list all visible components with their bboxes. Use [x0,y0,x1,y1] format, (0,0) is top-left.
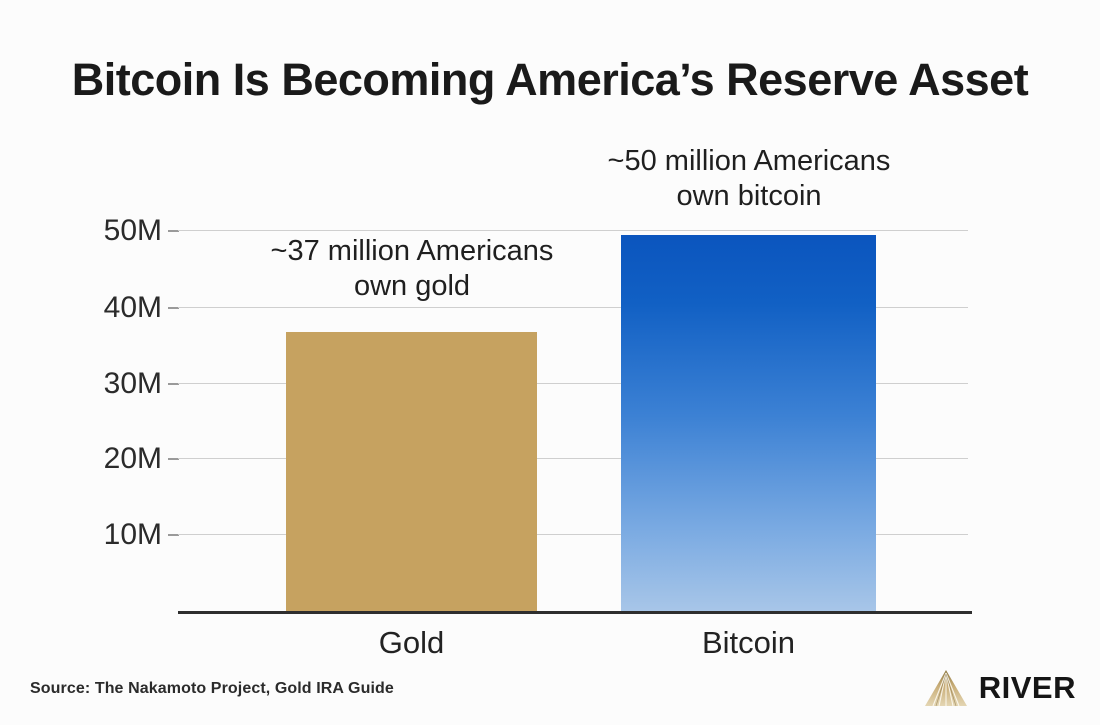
y-axis-label-10m: 10M [52,518,162,552]
annotation-bitcoin-line2: own bitcoin [573,179,925,214]
x-axis-label-gold: Gold [286,625,537,661]
y-axis-label-30m: 30M [52,367,162,401]
y-axis-label-20m: 20M [52,442,162,476]
bar-bitcoin[interactable] [621,235,876,612]
source-note: Source: The Nakamoto Project, Gold IRA G… [30,680,394,698]
x-axis-line [178,611,972,614]
brand-name: RIVER [979,670,1076,706]
annotation-gold-line2: own gold [236,269,588,304]
annotation-bitcoin-line1: ~50 million Americans [573,144,925,179]
bar-gold[interactable] [286,332,537,612]
brand-logo: RIVER [923,668,1076,708]
annotation-gold: ~37 million Americans own gold [236,234,588,305]
annotation-gold-line1: ~37 million Americans [236,234,588,269]
y-axis-label-40m: 40M [52,291,162,325]
page-title: Bitcoin Is Becoming America’s Reserve As… [0,54,1100,106]
chart-canvas: Bitcoin Is Becoming America’s Reserve As… [0,0,1100,725]
river-triangle-fan-icon [923,668,969,708]
annotation-bitcoin: ~50 million Americans own bitcoin [573,144,925,215]
y-axis-label-50m: 50M [52,214,162,248]
gridline-50m [178,230,968,231]
x-axis-label-bitcoin: Bitcoin [621,625,876,661]
